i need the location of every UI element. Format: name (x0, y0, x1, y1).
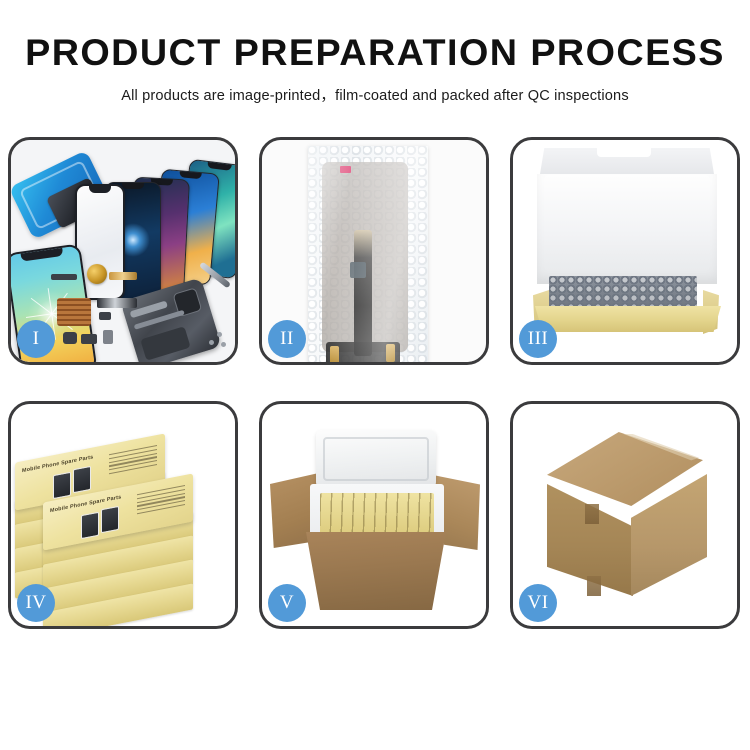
process-step-panel-4[interactable]: Mobile Phone Spare Parts Mobile Phone Sp… (8, 401, 238, 629)
process-step-panel-1[interactable]: I (8, 137, 238, 365)
process-step-grid: I II (8, 137, 742, 629)
foam-sheet-icon (537, 174, 717, 284)
carton-body-icon (306, 532, 446, 610)
carton-tab-icon (587, 576, 601, 596)
heat-shield-icon (57, 298, 91, 326)
process-step-panel-5[interactable]: V (259, 401, 489, 629)
process-step-panel-3[interactable]: III (510, 137, 740, 365)
step-badge-1: I (17, 320, 55, 358)
bubble-wrapped-item-icon (549, 276, 697, 310)
gold-contact-icon (386, 344, 395, 362)
gold-flex-cable-icon (109, 272, 137, 280)
page-title: PRODUCT PREPARATION PROCESS (0, 34, 750, 73)
foam-lid-icon (316, 430, 436, 488)
screw-icon (209, 340, 214, 345)
gold-contact-icon (330, 346, 339, 362)
small-part-icon (51, 274, 77, 280)
step-badge-3: III (519, 320, 557, 358)
packed-retail-boxes-icon (320, 493, 434, 535)
box-art-phone-icon (81, 512, 99, 539)
qc-sticker-icon (340, 166, 351, 173)
bubble-wrap-bag-icon (308, 146, 428, 362)
screw-icon (221, 342, 226, 347)
box-spec-lines (137, 485, 185, 517)
notch-icon (122, 183, 144, 189)
notch-icon (208, 162, 232, 171)
driver-ic-icon (350, 262, 366, 278)
page-header: PRODUCT PREPARATION PROCESS All products… (0, 0, 750, 105)
notch-icon (179, 171, 202, 179)
step-badge-5: V (268, 584, 306, 622)
small-part-icon (103, 330, 113, 344)
lid-notch-icon (597, 148, 651, 157)
small-part-icon (63, 332, 77, 344)
box-art-phone-icon (101, 506, 119, 533)
wireless-coil-icon (87, 264, 107, 284)
small-part-icon (99, 312, 111, 320)
box-front-icon (535, 306, 721, 332)
carton-tab-icon (585, 504, 599, 524)
flex-cable-icon (97, 298, 137, 308)
box-art-phone-icon (53, 472, 71, 499)
small-part-icon (81, 334, 97, 344)
box-spec-lines (109, 445, 157, 477)
flex-tail-icon (354, 230, 372, 356)
page-subtitle: All products are image-printed，film-coat… (0, 84, 750, 105)
step-badge-6: VI (519, 584, 557, 622)
screw-icon (217, 332, 222, 337)
step-badge-4: IV (17, 584, 55, 622)
process-step-panel-2[interactable]: II (259, 137, 489, 365)
process-step-panel-6[interactable]: VI (510, 401, 740, 629)
box-art-phone-icon (73, 466, 91, 493)
battery-icon (140, 326, 190, 360)
step-badge-2: II (268, 320, 306, 358)
